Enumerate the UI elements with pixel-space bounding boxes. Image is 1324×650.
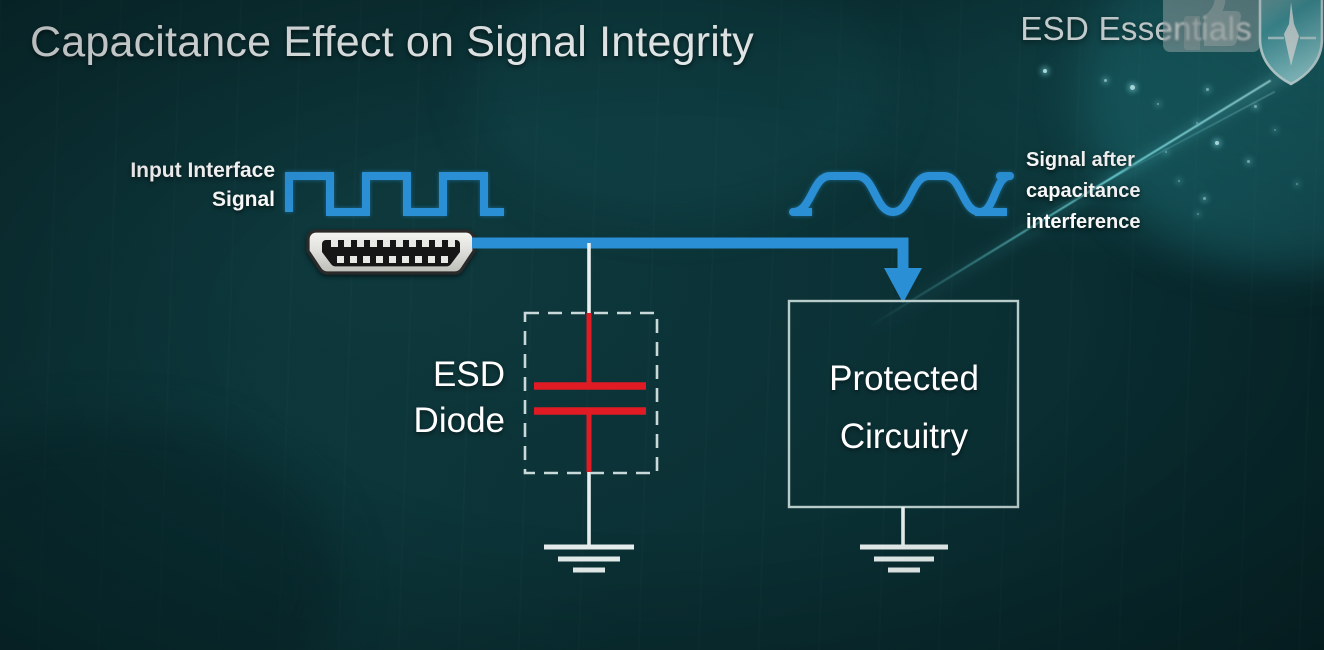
signal-arrow-icon <box>884 268 922 303</box>
input-waveform <box>289 176 504 212</box>
esd-diode-label-line2: Diode <box>380 398 505 444</box>
protected-circuitry-label-line1: Protected <box>790 350 1018 408</box>
slide-canvas: Capacitance Effect on Signal Integrity E… <box>0 0 1324 650</box>
ground-symbol-right-icon <box>860 547 948 570</box>
output-waveform <box>793 176 1010 212</box>
circuit-diagram <box>0 0 1324 650</box>
hdmi-connector-icon <box>308 231 474 273</box>
protected-circuitry-label: Protected Circuitry <box>790 350 1018 466</box>
esd-diode-label: ESD Diode <box>380 352 505 443</box>
capacitor-symbol-icon <box>534 313 646 472</box>
signal-trace <box>472 243 922 303</box>
protected-circuitry-label-line2: Circuitry <box>790 408 1018 466</box>
ground-symbol-left-icon <box>544 547 634 570</box>
esd-diode-label-line1: ESD <box>380 352 505 398</box>
